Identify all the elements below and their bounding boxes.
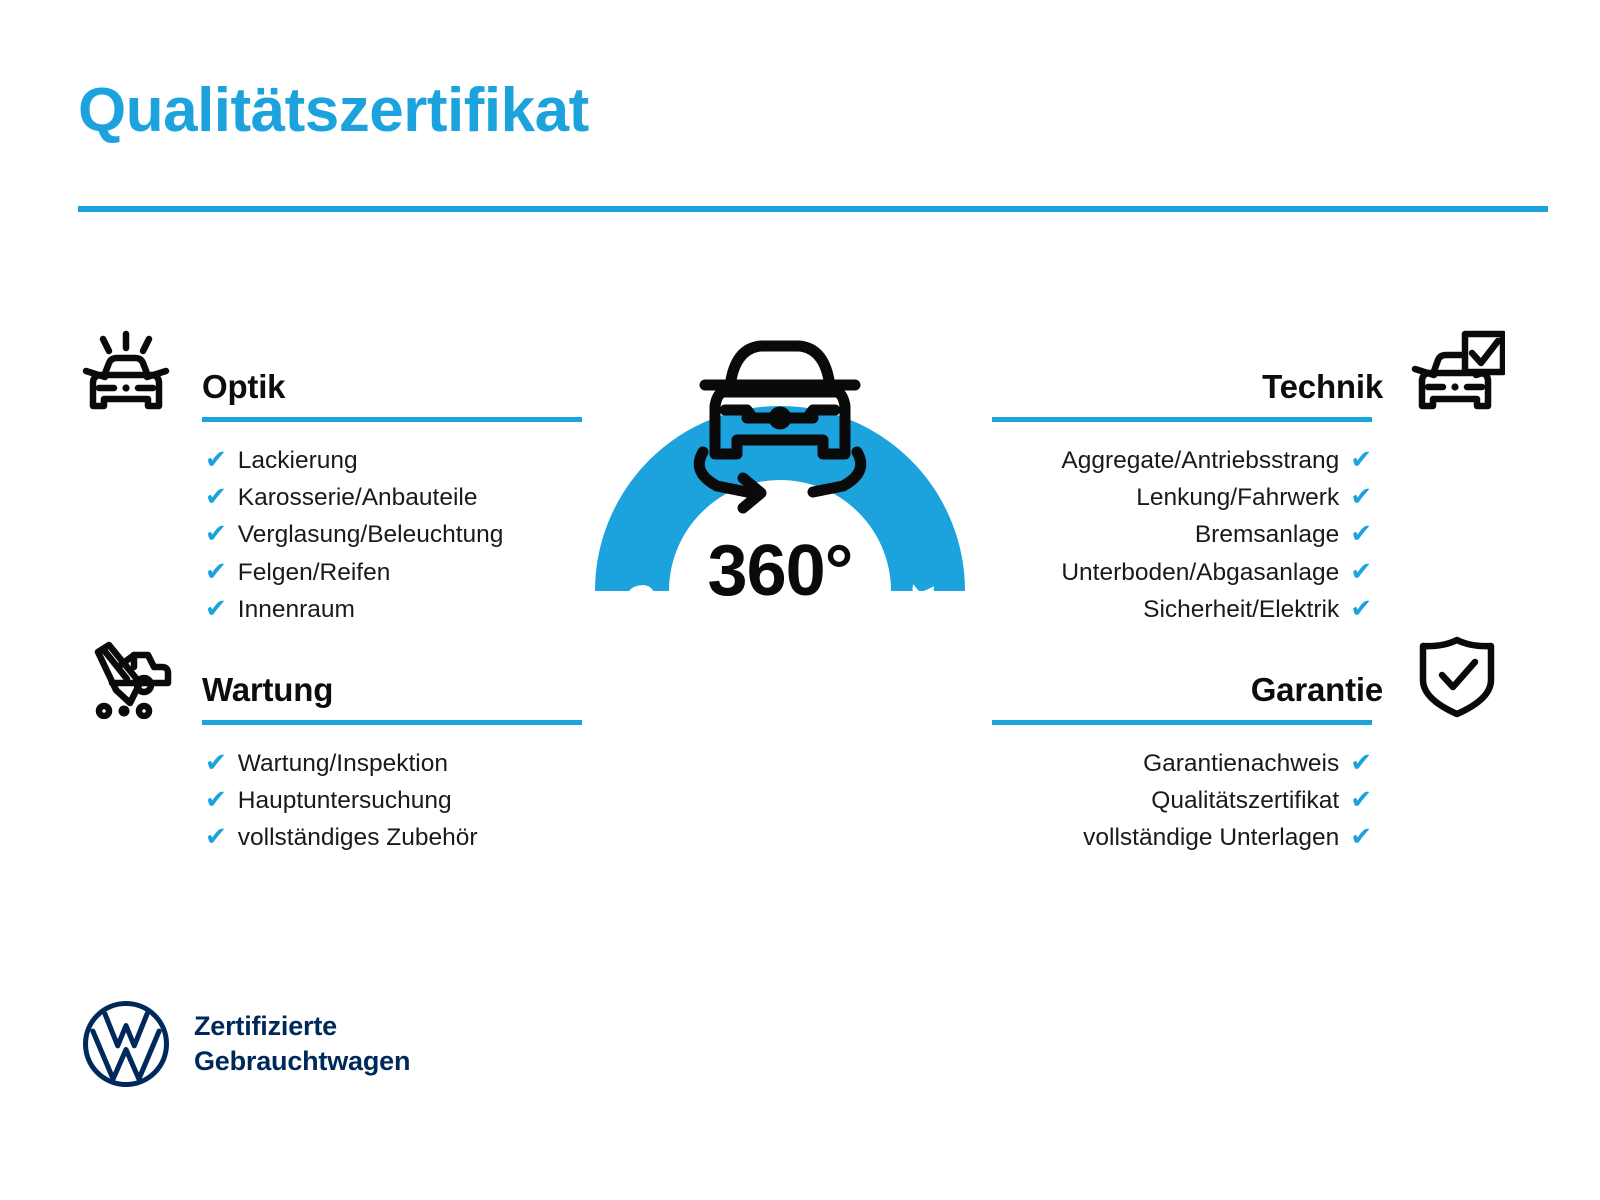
checklist-wartung: ✔Wartung/Inspektion ✔Hauptuntersuchung ✔… — [78, 745, 583, 857]
list-item-label: Unterboden/Abgasanlage — [1061, 554, 1339, 591]
section-underline — [992, 417, 1372, 422]
list-item-label: Lackierung — [238, 442, 358, 479]
check-icon: ✔ — [205, 483, 227, 509]
check-icon: ✔ — [205, 823, 227, 849]
vw-label-line-1: Zertifizierte — [194, 1011, 337, 1041]
check-icon: ✔ — [1350, 749, 1372, 775]
check-icon: ✔ — [1350, 446, 1372, 472]
check-icon: ✔ — [205, 446, 227, 472]
list-item: Sicherheit/Elektrik✔ — [1000, 591, 1372, 628]
shield-check-icon — [1409, 633, 1505, 719]
section-garantie: Garantie Garantienachweis✔ Qualitätszert… — [1000, 633, 1505, 857]
section-underline — [202, 417, 582, 422]
list-item: Aggregate/Antriebsstrang✔ — [1000, 442, 1372, 479]
vw-certified-logo-block: Zertifizierte Gebrauchtwagen — [80, 998, 410, 1090]
list-item: Qualitätszertifikat✔ — [1000, 782, 1372, 819]
list-item-label: Lenkung/Fahrwerk — [1136, 479, 1339, 516]
list-item-label: Garantienachweis — [1143, 745, 1339, 782]
list-item-label: Sicherheit/Elektrik — [1143, 591, 1339, 628]
car-checkbox-icon — [1409, 330, 1505, 416]
check-icon: ✔ — [1350, 823, 1372, 849]
section-optik: Optik ✔Lackierung ✔Karosserie/Anbauteile… — [78, 330, 583, 628]
list-item-label: Qualitätszertifikat — [1151, 782, 1339, 819]
list-item: ✔Innenraum — [205, 591, 583, 628]
section-header-garantie: Garantie — [1000, 633, 1505, 725]
list-item-label: Felgen/Reifen — [238, 554, 391, 591]
section-header-wartung: Wartung — [78, 633, 583, 725]
check-icon: ✔ — [1350, 483, 1372, 509]
car-shine-icon — [78, 330, 174, 416]
list-item: ✔Wartung/Inspektion — [205, 745, 583, 782]
list-item: ✔Felgen/Reifen — [205, 554, 583, 591]
checklist-technik: Aggregate/Antriebsstrang✔ Lenkung/Fahrwe… — [1000, 442, 1505, 628]
checklist-optik: ✔Lackierung ✔Karosserie/Anbauteile ✔Verg… — [78, 442, 583, 628]
list-item: Lenkung/Fahrwerk✔ — [1000, 479, 1372, 516]
list-item: Unterboden/Abgasanlage✔ — [1000, 554, 1372, 591]
list-item-label: Bremsanlage — [1195, 516, 1339, 553]
check-icon: ✔ — [205, 786, 227, 812]
check-icon: ✔ — [1350, 520, 1372, 546]
list-item-label: vollständige Unterlagen — [1083, 819, 1339, 856]
check-icon: ✔ — [205, 595, 227, 621]
list-item-label: Innenraum — [238, 591, 355, 628]
section-underline — [202, 720, 582, 725]
list-item: ✔Hauptuntersuchung — [205, 782, 583, 819]
vw-label-line-2: Gebrauchtwagen — [194, 1046, 410, 1076]
section-title: Optik — [202, 368, 285, 406]
section-wartung: Wartung ✔Wartung/Inspektion ✔Hauptunters… — [78, 633, 583, 857]
list-item: Bremsanlage✔ — [1000, 516, 1372, 553]
pencil-car-service-icon — [78, 633, 174, 719]
list-item-label: Hauptuntersuchung — [238, 782, 452, 819]
check-icon: ✔ — [205, 558, 227, 584]
certificate-page: Qualitätszertifikat — [0, 0, 1600, 1200]
section-technik: Technik Aggregate/Antriebsstrang✔ Lenkun… — [1000, 330, 1505, 628]
list-item: ✔Karosserie/Anbauteile — [205, 479, 583, 516]
checklist-garantie: Garantienachweis✔ Qualitätszertifikat✔ v… — [1000, 745, 1505, 857]
check-icon: ✔ — [1350, 595, 1372, 621]
list-item: ✔Verglasung/Beleuchtung — [205, 516, 583, 553]
section-title: Garantie — [1251, 671, 1383, 709]
check-icon: ✔ — [205, 520, 227, 546]
badge-number: 360° — [565, 530, 995, 612]
section-header-optik: Optik — [78, 330, 583, 422]
vw-logo-icon — [80, 998, 172, 1090]
list-item: vollständige Unterlagen✔ — [1000, 819, 1372, 856]
list-item: ✔vollständiges Zubehör — [205, 819, 583, 856]
check-icon: ✔ — [1350, 558, 1372, 584]
check-icon: ✔ — [1350, 786, 1372, 812]
section-title: Wartung — [202, 671, 333, 709]
list-item-label: vollständiges Zubehör — [238, 819, 478, 856]
page-title: Qualitätszertifikat — [78, 78, 589, 143]
section-header-technik: Technik — [1000, 330, 1505, 422]
section-underline — [992, 720, 1372, 725]
list-item-label: Wartung/Inspektion — [238, 745, 448, 782]
check-icon: ✔ — [205, 749, 227, 775]
list-item-label: Karosserie/Anbauteile — [238, 479, 478, 516]
list-item: Garantienachweis✔ — [1000, 745, 1372, 782]
vw-certified-label: Zertifizierte Gebrauchtwagen — [194, 1009, 410, 1078]
list-item: ✔Lackierung — [205, 442, 583, 479]
list-item-label: Aggregate/Antriebsstrang — [1061, 442, 1339, 479]
section-title: Technik — [1262, 368, 1383, 406]
header-divider — [78, 206, 1548, 212]
list-item-label: Verglasung/Beleuchtung — [238, 516, 504, 553]
gebrauchtwagen-check-badge: Gebrauchtwagen-Check — [565, 306, 995, 756]
